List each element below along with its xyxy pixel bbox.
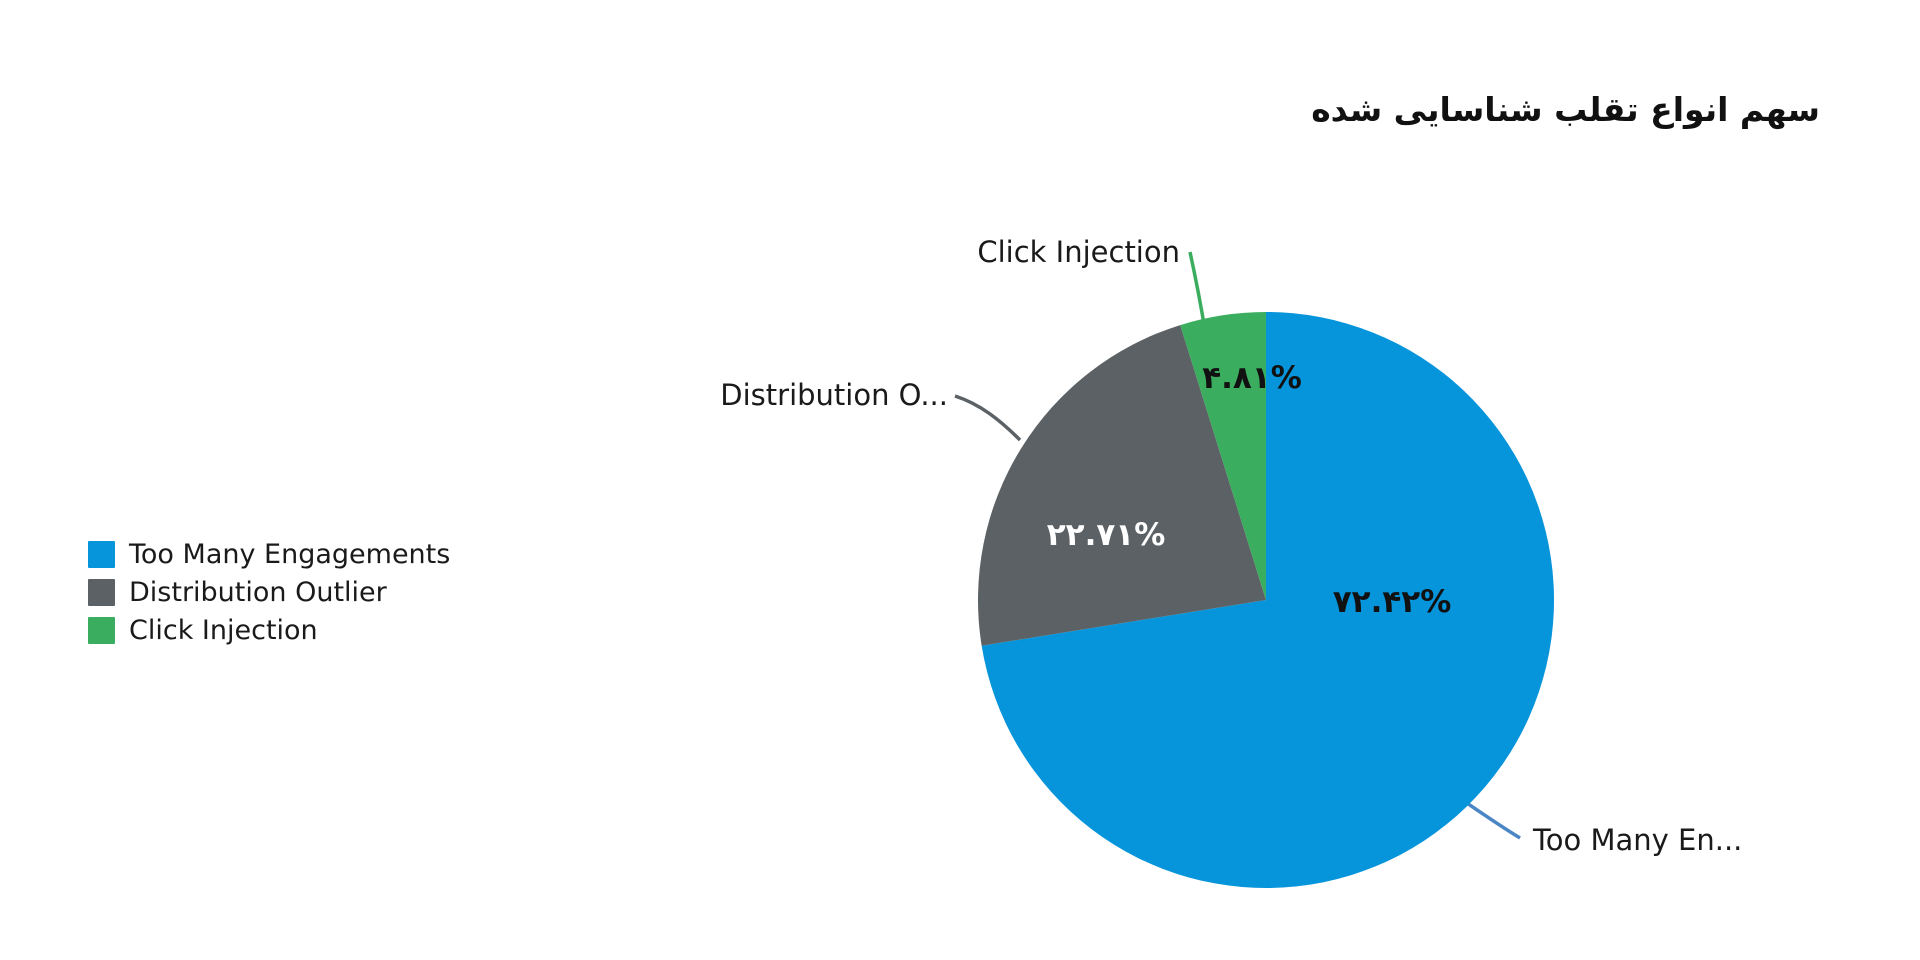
legend: Too Many Engagements Distribution Outlie… bbox=[88, 536, 450, 648]
slice-value-click-injection: ۴.۸۱% bbox=[1202, 360, 1302, 396]
callout-label-too-many-engagements: Too Many En... bbox=[1532, 823, 1742, 857]
leader-line-distribution-outlier bbox=[955, 396, 1020, 440]
legend-item-label: Click Injection bbox=[129, 617, 318, 644]
legend-item-distribution-outlier[interactable]: Distribution Outlier bbox=[88, 574, 450, 610]
callout-label-click-injection: Click Injection bbox=[977, 235, 1180, 269]
pie-chart: ۷۲.۴۲% ۲۲.۷۱% ۴.۸۱% Click Injection Dist… bbox=[0, 0, 1920, 960]
legend-item-click-injection[interactable]: Click Injection bbox=[88, 612, 450, 648]
leader-line-click-injection bbox=[1190, 252, 1205, 330]
slice-value-distribution-outlier: ۲۲.۷۱% bbox=[1047, 517, 1166, 553]
slice-value-too-many-engagements: ۷۲.۴۲% bbox=[1333, 584, 1452, 620]
legend-swatch-icon bbox=[88, 579, 115, 606]
legend-swatch-icon bbox=[88, 541, 115, 568]
legend-swatch-icon bbox=[88, 617, 115, 644]
legend-item-label: Distribution Outlier bbox=[129, 579, 387, 606]
callout-label-distribution-outlier: Distribution O... bbox=[720, 378, 948, 412]
pie-slices-group bbox=[978, 312, 1554, 888]
chart-canvas: سهم انواع تقلب شناسایی شده ۷۲.۴۲% ۲۲.۷۱%… bbox=[0, 0, 1920, 960]
legend-item-too-many-engagements[interactable]: Too Many Engagements bbox=[88, 536, 450, 572]
legend-item-label: Too Many Engagements bbox=[129, 541, 450, 568]
